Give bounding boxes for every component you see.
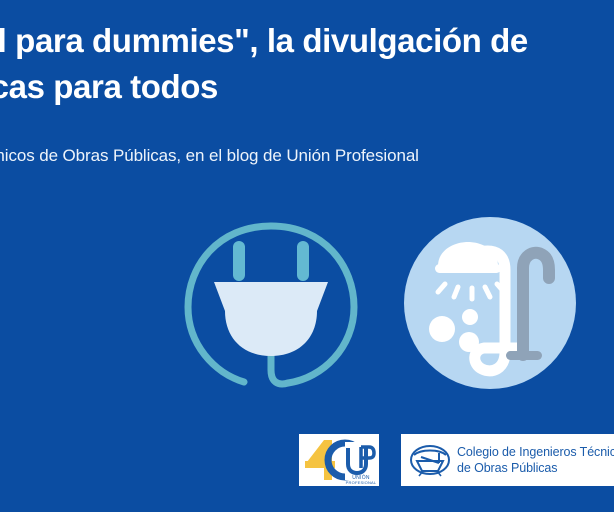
logo-bar: UNIÓN PROFESIONAL Colegio de Ingenieros … — [0, 434, 614, 490]
citop-logo-text: Colegio de Ingenieros Técnic de Obras Pú… — [457, 444, 614, 476]
headline-line-1: a Civil para dummies", la divulgación de — [0, 18, 614, 64]
shower-faucet-icon — [402, 212, 578, 394]
citop-text-line-2: de Obras Públicas — [457, 460, 614, 476]
headline-line-2: Públicas para todos — [0, 64, 614, 110]
icons-row — [0, 205, 614, 400]
svg-text:PROFESIONAL: PROFESIONAL — [346, 480, 377, 485]
union-profesional-40-logo: UNIÓN PROFESIONAL — [299, 434, 379, 486]
citop-emblem-icon — [409, 441, 451, 479]
page-subtitle: enieros Técnicos de Obras Públicas, en e… — [0, 144, 614, 168]
electric-plug-icon — [182, 210, 360, 395]
citop-text-line-1: Colegio de Ingenieros Técnic — [457, 444, 614, 460]
page-title: a Civil para dummies", la divulgación de… — [0, 18, 614, 110]
promo-slide: a Civil para dummies", la divulgación de… — [0, 0, 614, 512]
citop-logo: Colegio de Ingenieros Técnic de Obras Pú… — [401, 434, 614, 486]
